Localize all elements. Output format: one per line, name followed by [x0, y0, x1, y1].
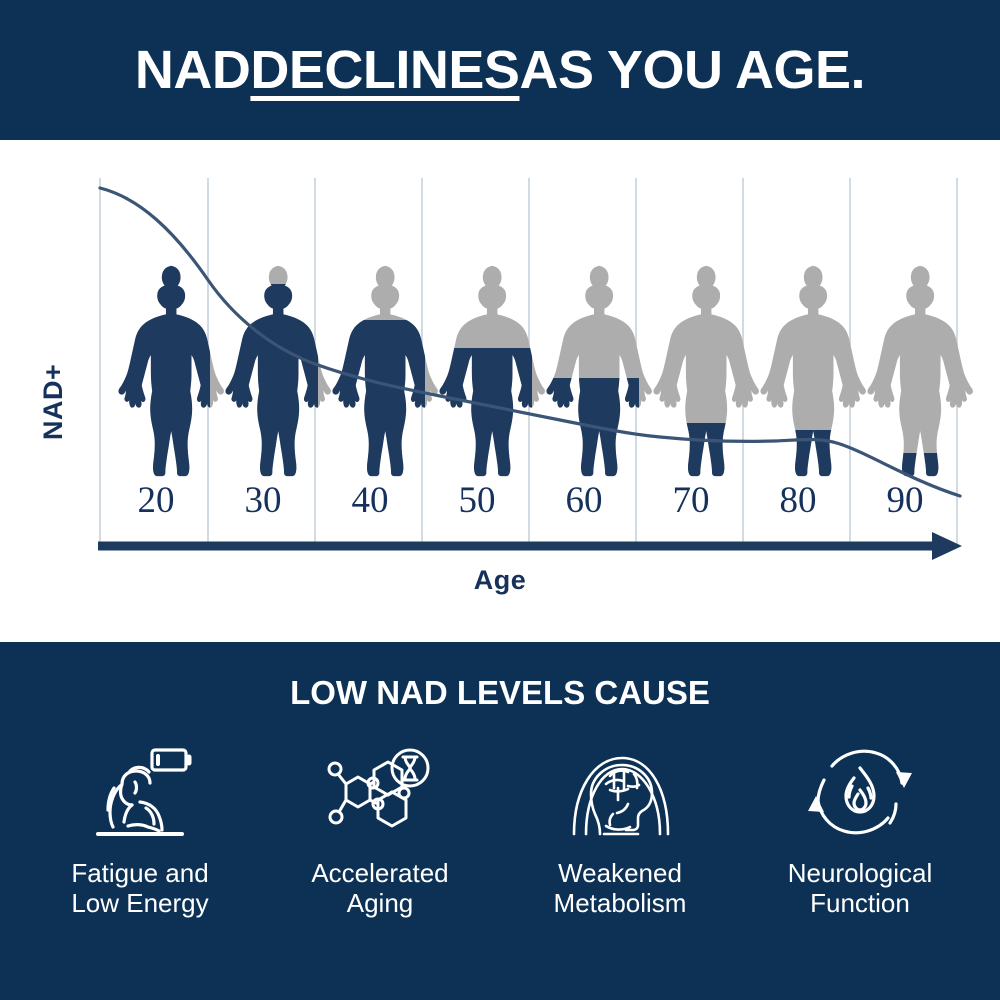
low-nad-section: LOW NAD LEVELS CAUSE — [0, 642, 1000, 1000]
flame-recycle-arrows-icon — [804, 740, 916, 844]
x-tick-labels: 20 30 40 50 60 70 80 90 — [138, 480, 924, 521]
tick-label-20: 20 — [138, 480, 175, 521]
tired-person-battery-icon — [84, 740, 196, 844]
cause-item-metabolism[interactable]: Weakened Metabolism — [500, 740, 740, 918]
x-axis-arrow — [98, 532, 962, 560]
title-underlined-word: DECLINES — [250, 39, 519, 101]
tick-label-60: 60 — [566, 480, 603, 521]
cause-label-neurological: Neurological Function — [788, 858, 933, 918]
page-title: NAD DECLINES AS YOU AGE. — [0, 0, 1000, 140]
chart-plot-area: 20 30 40 50 60 70 80 90 — [0, 140, 1000, 642]
cause-label-aging: Accelerated Aging — [311, 858, 448, 918]
tick-label-30: 30 — [245, 480, 282, 521]
tick-label-90: 90 — [887, 480, 924, 521]
cause-item-aging[interactable]: Accelerated Aging — [260, 740, 500, 918]
tick-label-70: 70 — [673, 480, 710, 521]
molecule-hourglass-icon — [324, 740, 436, 844]
causes-list: Fatigue and Low Energy — [20, 740, 980, 918]
title-part-2: AS YOU AGE. — [519, 39, 865, 101]
tick-label-50: 50 — [459, 480, 496, 521]
cause-label-metabolism: Weakened Metabolism — [554, 858, 687, 918]
tick-label-80: 80 — [780, 480, 817, 521]
title-part-1: NAD — [135, 39, 251, 101]
header-band: NAD DECLINES AS YOU AGE. — [0, 0, 1000, 140]
infographic-page: NAD DECLINES AS YOU AGE. NAD+ Age — [0, 0, 1000, 1000]
tick-label-40: 40 — [352, 480, 389, 521]
nad-decline-chart: NAD+ Age — [0, 140, 1000, 642]
cause-label-fatigue: Fatigue and Low Energy — [71, 858, 208, 918]
cause-item-neurological[interactable]: Neurological Function — [740, 740, 980, 918]
section-title: LOW NAD LEVELS CAUSE — [0, 674, 1000, 712]
head-brain-waves-icon — [564, 740, 676, 844]
cause-item-fatigue[interactable]: Fatigue and Low Energy — [20, 740, 260, 918]
